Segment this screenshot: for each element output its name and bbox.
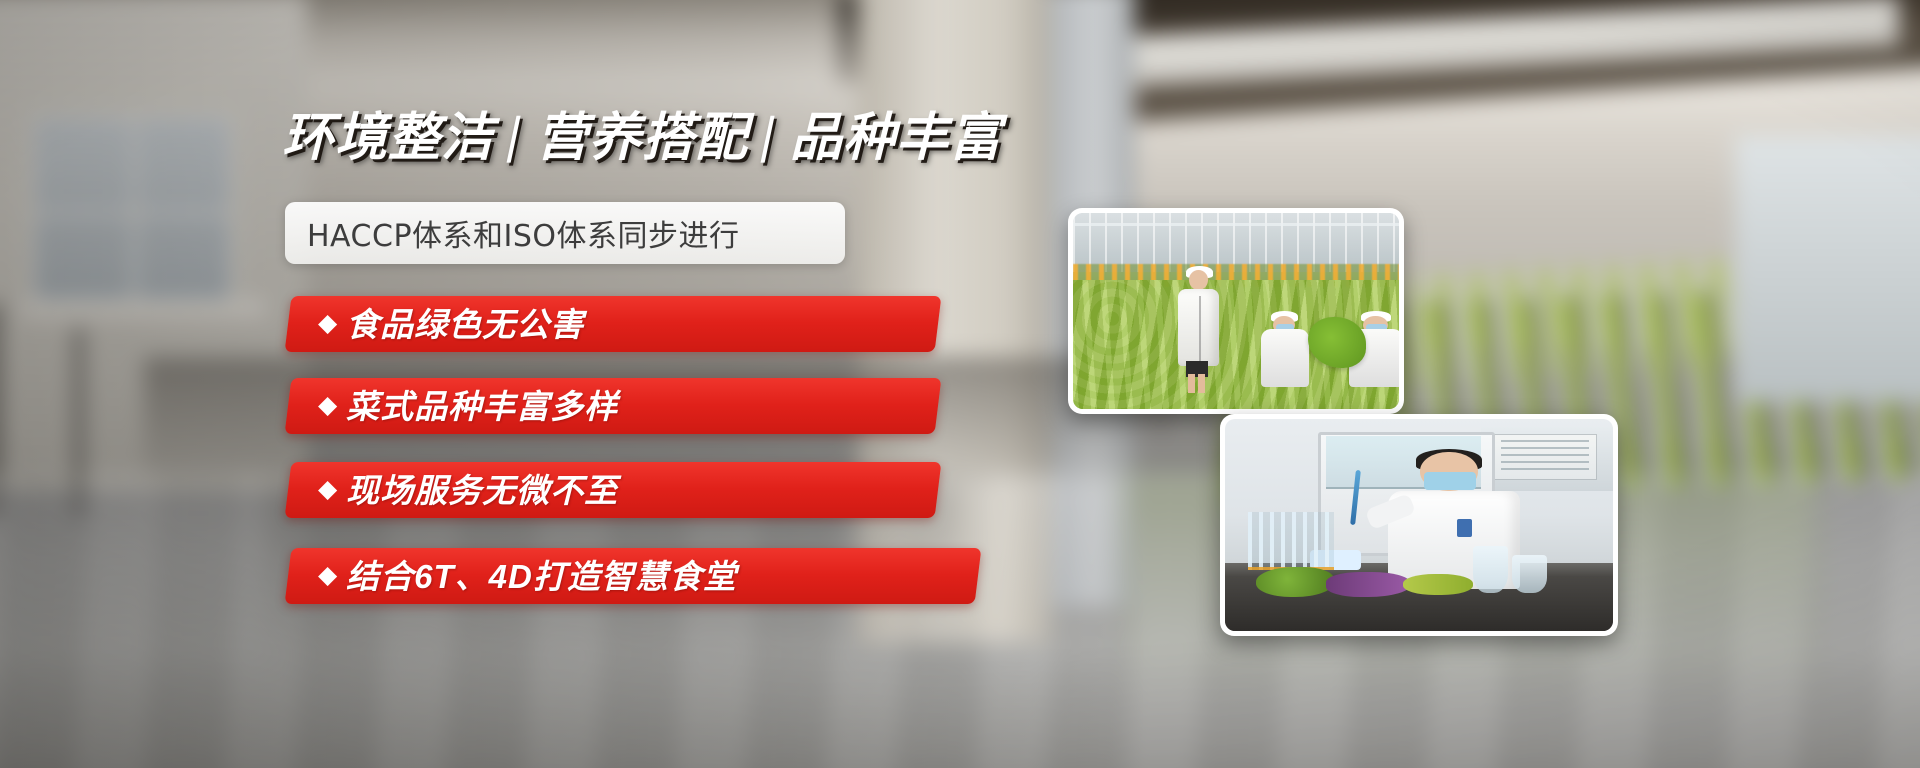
laboratory-scene: [1225, 419, 1613, 631]
feature-bar-2-inner: ◆ 菜式品种丰富多样: [288, 390, 618, 423]
feature-bar-1-label: 食品绿色无公害: [346, 308, 584, 341]
subtitle-text: HACCP体系和ISO体系同步进行: [285, 211, 740, 255]
lab-flask-1: [1473, 546, 1508, 593]
diamond-icon: ◆: [318, 311, 337, 336]
feature-bar-2-label: 菜式品种丰富多样: [346, 390, 618, 423]
laboratory-testing-photo: [1220, 414, 1618, 636]
vegetable-sample-green: [1256, 567, 1334, 597]
feature-bar-1[interactable]: ◆ 食品绿色无公害: [285, 296, 942, 352]
greenhouse-scene: [1073, 213, 1399, 409]
banner-content: 环境整洁|营养搭配|品种丰富 HACCP体系和ISO体系同步进行 ◆ 食品绿色无…: [0, 0, 1920, 768]
headline-separator-2: |: [743, 110, 796, 160]
standing-inspector-coat: [1178, 289, 1219, 366]
feature-bar-2[interactable]: ◆ 菜式品种丰富多样: [285, 378, 942, 434]
standing-inspector-head: [1189, 270, 1209, 290]
vegetable-sample-yellow: [1403, 574, 1473, 595]
diamond-icon: ◆: [318, 477, 337, 502]
headline-segment-2: 营养搭配: [536, 109, 748, 167]
page-title: 环境整洁|营养搭配|品种丰富: [282, 112, 1002, 164]
feature-bar-4-label: 结合6T、4D打造智慧食堂: [346, 560, 737, 593]
feature-bar-3[interactable]: ◆ 现场服务无微不至: [285, 462, 942, 518]
vegetable-sample-purple: [1326, 572, 1411, 597]
feature-bar-3-label: 现场服务无微不至: [346, 474, 618, 507]
banner-stage: 环境整洁|营养搭配|品种丰富 HACCP体系和ISO体系同步进行 ◆ 食品绿色无…: [0, 0, 1920, 768]
laboratory-testing-photo-inner: [1225, 419, 1613, 631]
greenhouse-inspection-photo-inner: [1073, 213, 1399, 409]
crouching-inspector-1-coat: [1261, 329, 1309, 387]
feature-bar-4[interactable]: ◆ 结合6T、4D打造智慧食堂: [285, 548, 982, 604]
headline-segment-1: 环境整洁: [282, 109, 494, 167]
diamond-icon: ◆: [318, 393, 337, 418]
feature-bar-3-inner: ◆ 现场服务无微不至: [288, 474, 618, 507]
headline-segment-3: 品种丰富: [790, 109, 1002, 167]
lab-flask-2: [1512, 555, 1547, 593]
test-tube-rack: [1248, 512, 1333, 570]
crouching-inspector-1: [1259, 311, 1311, 393]
lab-technician-badge: [1457, 519, 1473, 537]
subtitle-chip: HACCP体系和ISO体系同步进行: [285, 202, 845, 264]
greenhouse-inspection-photo: [1068, 208, 1404, 414]
standing-inspector: [1174, 262, 1223, 395]
diamond-icon: ◆: [318, 563, 337, 588]
feature-bar-4-inner: ◆ 结合6T、4D打造智慧食堂: [288, 560, 737, 593]
lab-technician-mask: [1424, 472, 1477, 490]
standing-inspector-legs: [1188, 374, 1206, 393]
greenhouse-roof-beam: [1073, 223, 1399, 226]
headline-separator-1: |: [489, 110, 542, 160]
feature-bar-1-inner: ◆ 食品绿色无公害: [288, 308, 584, 341]
